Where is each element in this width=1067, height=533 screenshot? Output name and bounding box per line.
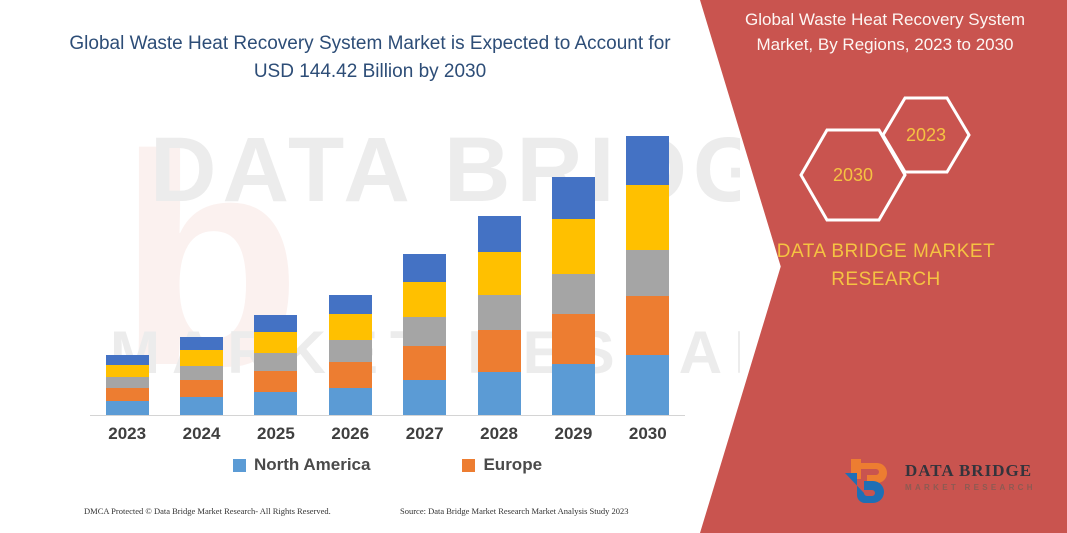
company-logo: DATA BRIDGE MARKET RESEARCH xyxy=(843,455,1043,507)
bar-segment xyxy=(329,388,372,415)
legend-swatch xyxy=(233,459,246,472)
hexagon-label-big: 2030 xyxy=(833,165,873,186)
bar-segment xyxy=(403,346,446,380)
hexagon-badges: 2030 2023 xyxy=(792,95,992,220)
bar-segment xyxy=(552,177,595,219)
chart-legend: North AmericaEurope xyxy=(90,455,685,475)
logo-secondary-text: MARKET RESEARCH xyxy=(905,483,1036,492)
legend-item: Europe xyxy=(462,455,542,475)
x-axis-tick-label: 2029 xyxy=(536,424,610,444)
bar-segment xyxy=(106,355,149,365)
x-axis-tick-label: 2028 xyxy=(462,424,536,444)
stacked-bar xyxy=(254,315,297,415)
legend-item: North America xyxy=(233,455,371,475)
bar-segment xyxy=(403,380,446,415)
stacked-bar xyxy=(180,337,223,415)
legend-label: Europe xyxy=(483,455,542,475)
bar-segment xyxy=(254,392,297,415)
bar-segment xyxy=(552,219,595,274)
bar-segment xyxy=(180,366,223,380)
bar-chart-plot xyxy=(90,120,685,415)
legend-swatch xyxy=(462,459,475,472)
bar-segment xyxy=(254,353,297,371)
bar-segment xyxy=(478,295,521,330)
bar-segment xyxy=(329,314,372,340)
chart-title: Global Waste Heat Recovery System Market… xyxy=(60,30,680,85)
bar-segment xyxy=(254,315,297,332)
x-axis-line xyxy=(90,415,685,416)
bar-segment xyxy=(626,185,669,250)
hexagon-badge-2023: 2023 xyxy=(880,95,972,175)
bar-segment xyxy=(478,330,521,372)
bar-group xyxy=(462,120,536,415)
bar-segment xyxy=(180,337,223,350)
bar-segment xyxy=(552,314,595,364)
brand-text: DATA BRIDGE MARKET RESEARCH xyxy=(746,238,1026,293)
logo-primary-text: DATA BRIDGE xyxy=(905,461,1036,481)
logo-mark-icon xyxy=(843,457,901,505)
stacked-bar xyxy=(626,136,669,415)
bar-segment xyxy=(626,250,669,296)
x-axis-tick-label: 2024 xyxy=(164,424,238,444)
bar-segment xyxy=(329,340,372,362)
x-axis-tick-label: 2030 xyxy=(611,424,685,444)
stacked-bar xyxy=(478,216,521,415)
footer-copyright: DMCA Protected © Data Bridge Market Rese… xyxy=(84,506,331,516)
bar-group xyxy=(611,120,685,415)
right-brand-panel: Global Waste Heat Recovery System Market… xyxy=(700,0,1067,533)
bar-segment xyxy=(329,362,372,388)
bar-segment xyxy=(626,296,669,355)
bar-segment xyxy=(478,252,521,295)
bar-group xyxy=(239,120,313,415)
x-axis-tick-label: 2027 xyxy=(388,424,462,444)
bar-segment xyxy=(254,332,297,353)
x-axis-tick-label: 2025 xyxy=(239,424,313,444)
panel-title: Global Waste Heat Recovery System Market… xyxy=(726,8,1044,57)
bar-segment xyxy=(329,295,372,314)
legend-label: North America xyxy=(254,455,371,475)
bar-segment xyxy=(180,397,223,415)
bar-group xyxy=(313,120,387,415)
bar-group xyxy=(388,120,462,415)
x-axis-tick-label: 2026 xyxy=(313,424,387,444)
bar-group xyxy=(90,120,164,415)
bar-segment xyxy=(180,380,223,397)
bar-segment xyxy=(626,136,669,185)
bar-segment xyxy=(180,350,223,366)
stacked-bar xyxy=(403,254,446,415)
stacked-bar xyxy=(106,355,149,415)
bar-segment xyxy=(403,317,446,346)
bar-segment xyxy=(478,372,521,415)
bar-segment xyxy=(478,216,521,252)
x-axis-labels: 20232024202520262027202820292030 xyxy=(90,424,685,444)
bar-segment xyxy=(552,274,595,314)
stacked-bar xyxy=(552,177,595,415)
bar-segment xyxy=(106,365,149,377)
hexagon-label-small: 2023 xyxy=(906,125,946,146)
bar-segment xyxy=(106,401,149,415)
bar-segment xyxy=(254,371,297,392)
bar-group xyxy=(536,120,610,415)
logo-text: DATA BRIDGE MARKET RESEARCH xyxy=(905,461,1036,492)
bar-segment xyxy=(403,254,446,282)
footer-source: Source: Data Bridge Market Research Mark… xyxy=(400,506,629,516)
bar-segment xyxy=(106,388,149,401)
bar-segment xyxy=(552,364,595,415)
stacked-bar xyxy=(329,295,372,415)
bar-segment xyxy=(403,282,446,317)
bar-segment xyxy=(106,377,149,388)
bar-group xyxy=(164,120,238,415)
bar-segment xyxy=(626,355,669,415)
x-axis-tick-label: 2023 xyxy=(90,424,164,444)
infographic-canvas: b DATA BRIDGE MARKET RESEARCH Global Was… xyxy=(0,0,1067,533)
